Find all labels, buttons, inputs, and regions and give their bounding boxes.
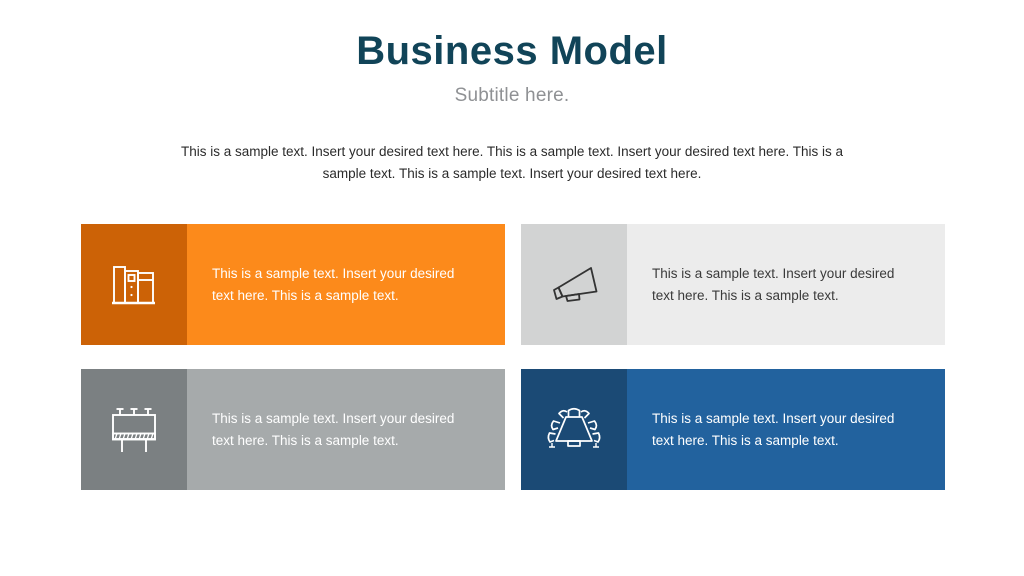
card-text: This is a sample text. Insert your desir… (212, 408, 462, 452)
page-subtitle: Subtitle here. (0, 85, 1024, 107)
conference-table-icon (544, 403, 604, 457)
card-text: This is a sample text. Insert your desir… (212, 263, 462, 307)
card-icon-panel (521, 224, 627, 345)
card-text: This is a sample text. Insert your desir… (652, 263, 902, 307)
intro-paragraph: This is a sample text. Insert your desir… (162, 141, 862, 186)
card-text-panel: This is a sample text. Insert your desir… (627, 224, 945, 345)
card-megaphone[interactable]: This is a sample text. Insert your desir… (521, 224, 945, 345)
slide-header: Business Model Subtitle here. (0, 28, 1024, 107)
bookshelf-icon (107, 258, 161, 312)
page-title: Business Model (0, 28, 1024, 74)
card-conference-table[interactable]: This is a sample text. Insert your desir… (521, 369, 945, 490)
slide-canvas: Business Model Subtitle here. This is a … (0, 0, 1024, 576)
card-icon-panel (521, 369, 627, 490)
card-text-panel: This is a sample text. Insert your desir… (627, 369, 945, 490)
card-icon-panel (81, 369, 187, 490)
card-icon-panel (81, 224, 187, 345)
card-text-panel: This is a sample text. Insert your desir… (187, 369, 505, 490)
card-text: This is a sample text. Insert your desir… (652, 408, 902, 452)
card-text-panel: This is a sample text. Insert your desir… (187, 224, 505, 345)
billboard-icon (106, 403, 162, 457)
card-grid: This is a sample text. Insert your desir… (81, 224, 945, 496)
megaphone-icon (546, 261, 602, 309)
card-bookshelf[interactable]: This is a sample text. Insert your desir… (81, 224, 505, 345)
card-billboard[interactable]: This is a sample text. Insert your desir… (81, 369, 505, 490)
